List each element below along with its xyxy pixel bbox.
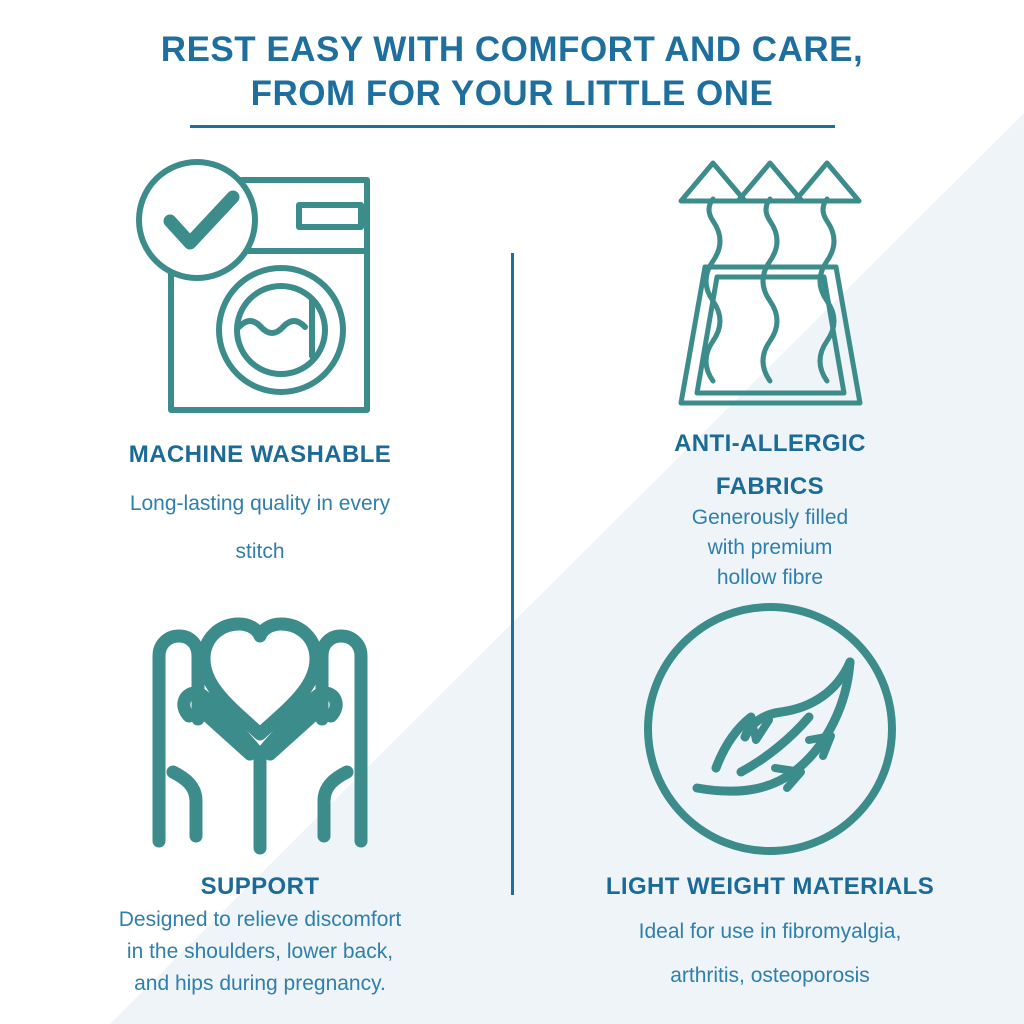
feature-desc-line: stitch bbox=[40, 539, 480, 565]
vertical-divider-line bbox=[511, 253, 514, 895]
feature-desc-line: Long-lasting quality in every bbox=[40, 491, 480, 517]
poster-content: REST EASY WITH COMFORT AND CARE, FROM FO… bbox=[0, 0, 1024, 1024]
feature-support: SUPPORT Designed to relieve discomfort i… bbox=[40, 590, 480, 997]
feature-title: MACHINE WASHABLE bbox=[40, 440, 480, 469]
feature-desc-line: Designed to relieve discomfort bbox=[40, 907, 480, 933]
feature-desc-line: Generously filled bbox=[550, 505, 990, 531]
feature-title: SUPPORT bbox=[40, 872, 480, 901]
feature-desc-line: with premium bbox=[550, 535, 990, 561]
title-line-2: FROM FOR YOUR LITTLE ONE bbox=[0, 72, 1024, 116]
title-line-1: REST EASY WITH COMFORT AND CARE, bbox=[0, 28, 1024, 72]
infographic-poster: REST EASY WITH COMFORT AND CARE, FROM FO… bbox=[0, 0, 1024, 1024]
title-underline-rule bbox=[190, 125, 835, 128]
feature-desc-line: and hips during pregnancy. bbox=[40, 971, 480, 997]
feature-desc-line: in the shoulders, lower back, bbox=[40, 939, 480, 965]
feature-title: LIGHT WEIGHT MATERIALS bbox=[550, 872, 990, 901]
feature-desc-line: hollow fibre bbox=[550, 565, 990, 591]
poster-title: REST EASY WITH COMFORT AND CARE, FROM FO… bbox=[0, 28, 1024, 128]
feather-in-circle-icon bbox=[550, 590, 990, 858]
feature-desc-line: Ideal for use in fibromyalgia, bbox=[550, 919, 990, 945]
feature-machine-washable: MACHINE WASHABLE Long-lasting quality in… bbox=[40, 150, 480, 565]
feature-anti-allergic-fabrics: ANTI-ALLERGIC FABRICS Generously filled … bbox=[550, 150, 990, 591]
feature-title: FABRICS bbox=[550, 472, 990, 501]
washing-machine-check-icon bbox=[40, 150, 480, 420]
feature-light-weight-materials: LIGHT WEIGHT MATERIALS Ideal for use in … bbox=[550, 590, 990, 989]
breathable-fabric-arrows-icon bbox=[550, 150, 990, 415]
feature-title: ANTI-ALLERGIC bbox=[550, 429, 990, 458]
feature-desc-line: arthritis, osteoporosis bbox=[550, 963, 990, 989]
hands-holding-heart-icon bbox=[40, 590, 480, 858]
